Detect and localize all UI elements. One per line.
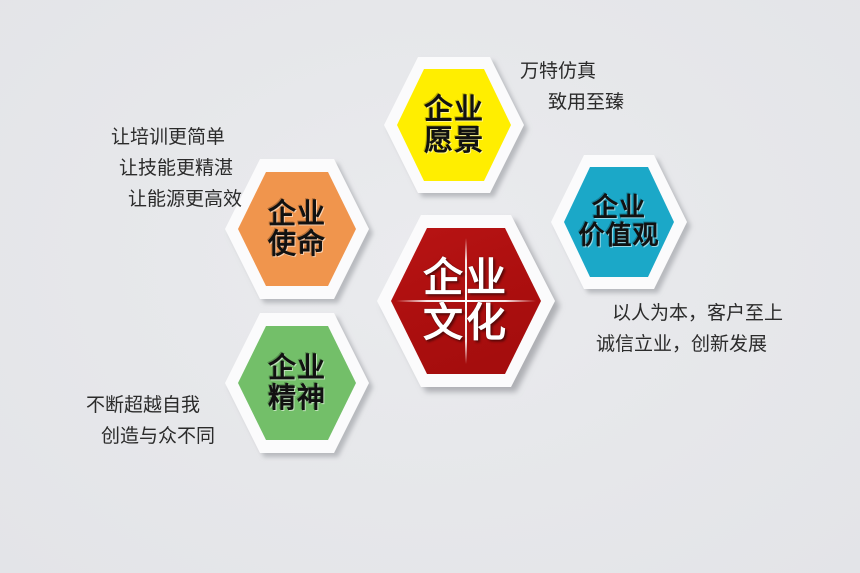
- caption-values-line-1: 以人为本，客户至上: [612, 298, 783, 329]
- caption-mission: 让培训更简单 让技能更精湛 让能源更高效: [20, 122, 225, 214]
- caption-mission-line-1: 让培训更简单: [20, 122, 225, 153]
- hexagon-values[interactable]: 企业 价值观: [548, 152, 690, 292]
- caption-mission-line-3: 让能源更高效: [20, 184, 242, 215]
- caption-vision-line-1: 万特仿真: [520, 56, 624, 87]
- caption-mission-line-2: 让技能更精湛: [20, 153, 233, 184]
- hexagon-mission[interactable]: 企业 使命: [222, 156, 372, 302]
- caption-vision: 万特仿真 致用至臻: [520, 56, 624, 118]
- caption-spirit-line-1: 不断超越自我: [86, 390, 215, 421]
- hexagon-spirit[interactable]: 企业 精神: [222, 310, 372, 456]
- hexagon-culture[interactable]: 企业 文化: [374, 212, 558, 390]
- caption-values-line-2: 诚信立业，创新发展: [596, 329, 783, 360]
- caption-vision-line-2: 致用至臻: [548, 87, 624, 118]
- caption-values: 以人为本，客户至上 诚信立业，创新发展: [596, 298, 783, 360]
- hexagon-vision[interactable]: 企业 愿景: [381, 54, 527, 196]
- caption-spirit-line-2: 创造与众不同: [101, 421, 215, 452]
- infographic-canvas: 企业 使命 企业 精神: [0, 0, 860, 573]
- caption-spirit: 不断超越自我 创造与众不同: [86, 390, 215, 452]
